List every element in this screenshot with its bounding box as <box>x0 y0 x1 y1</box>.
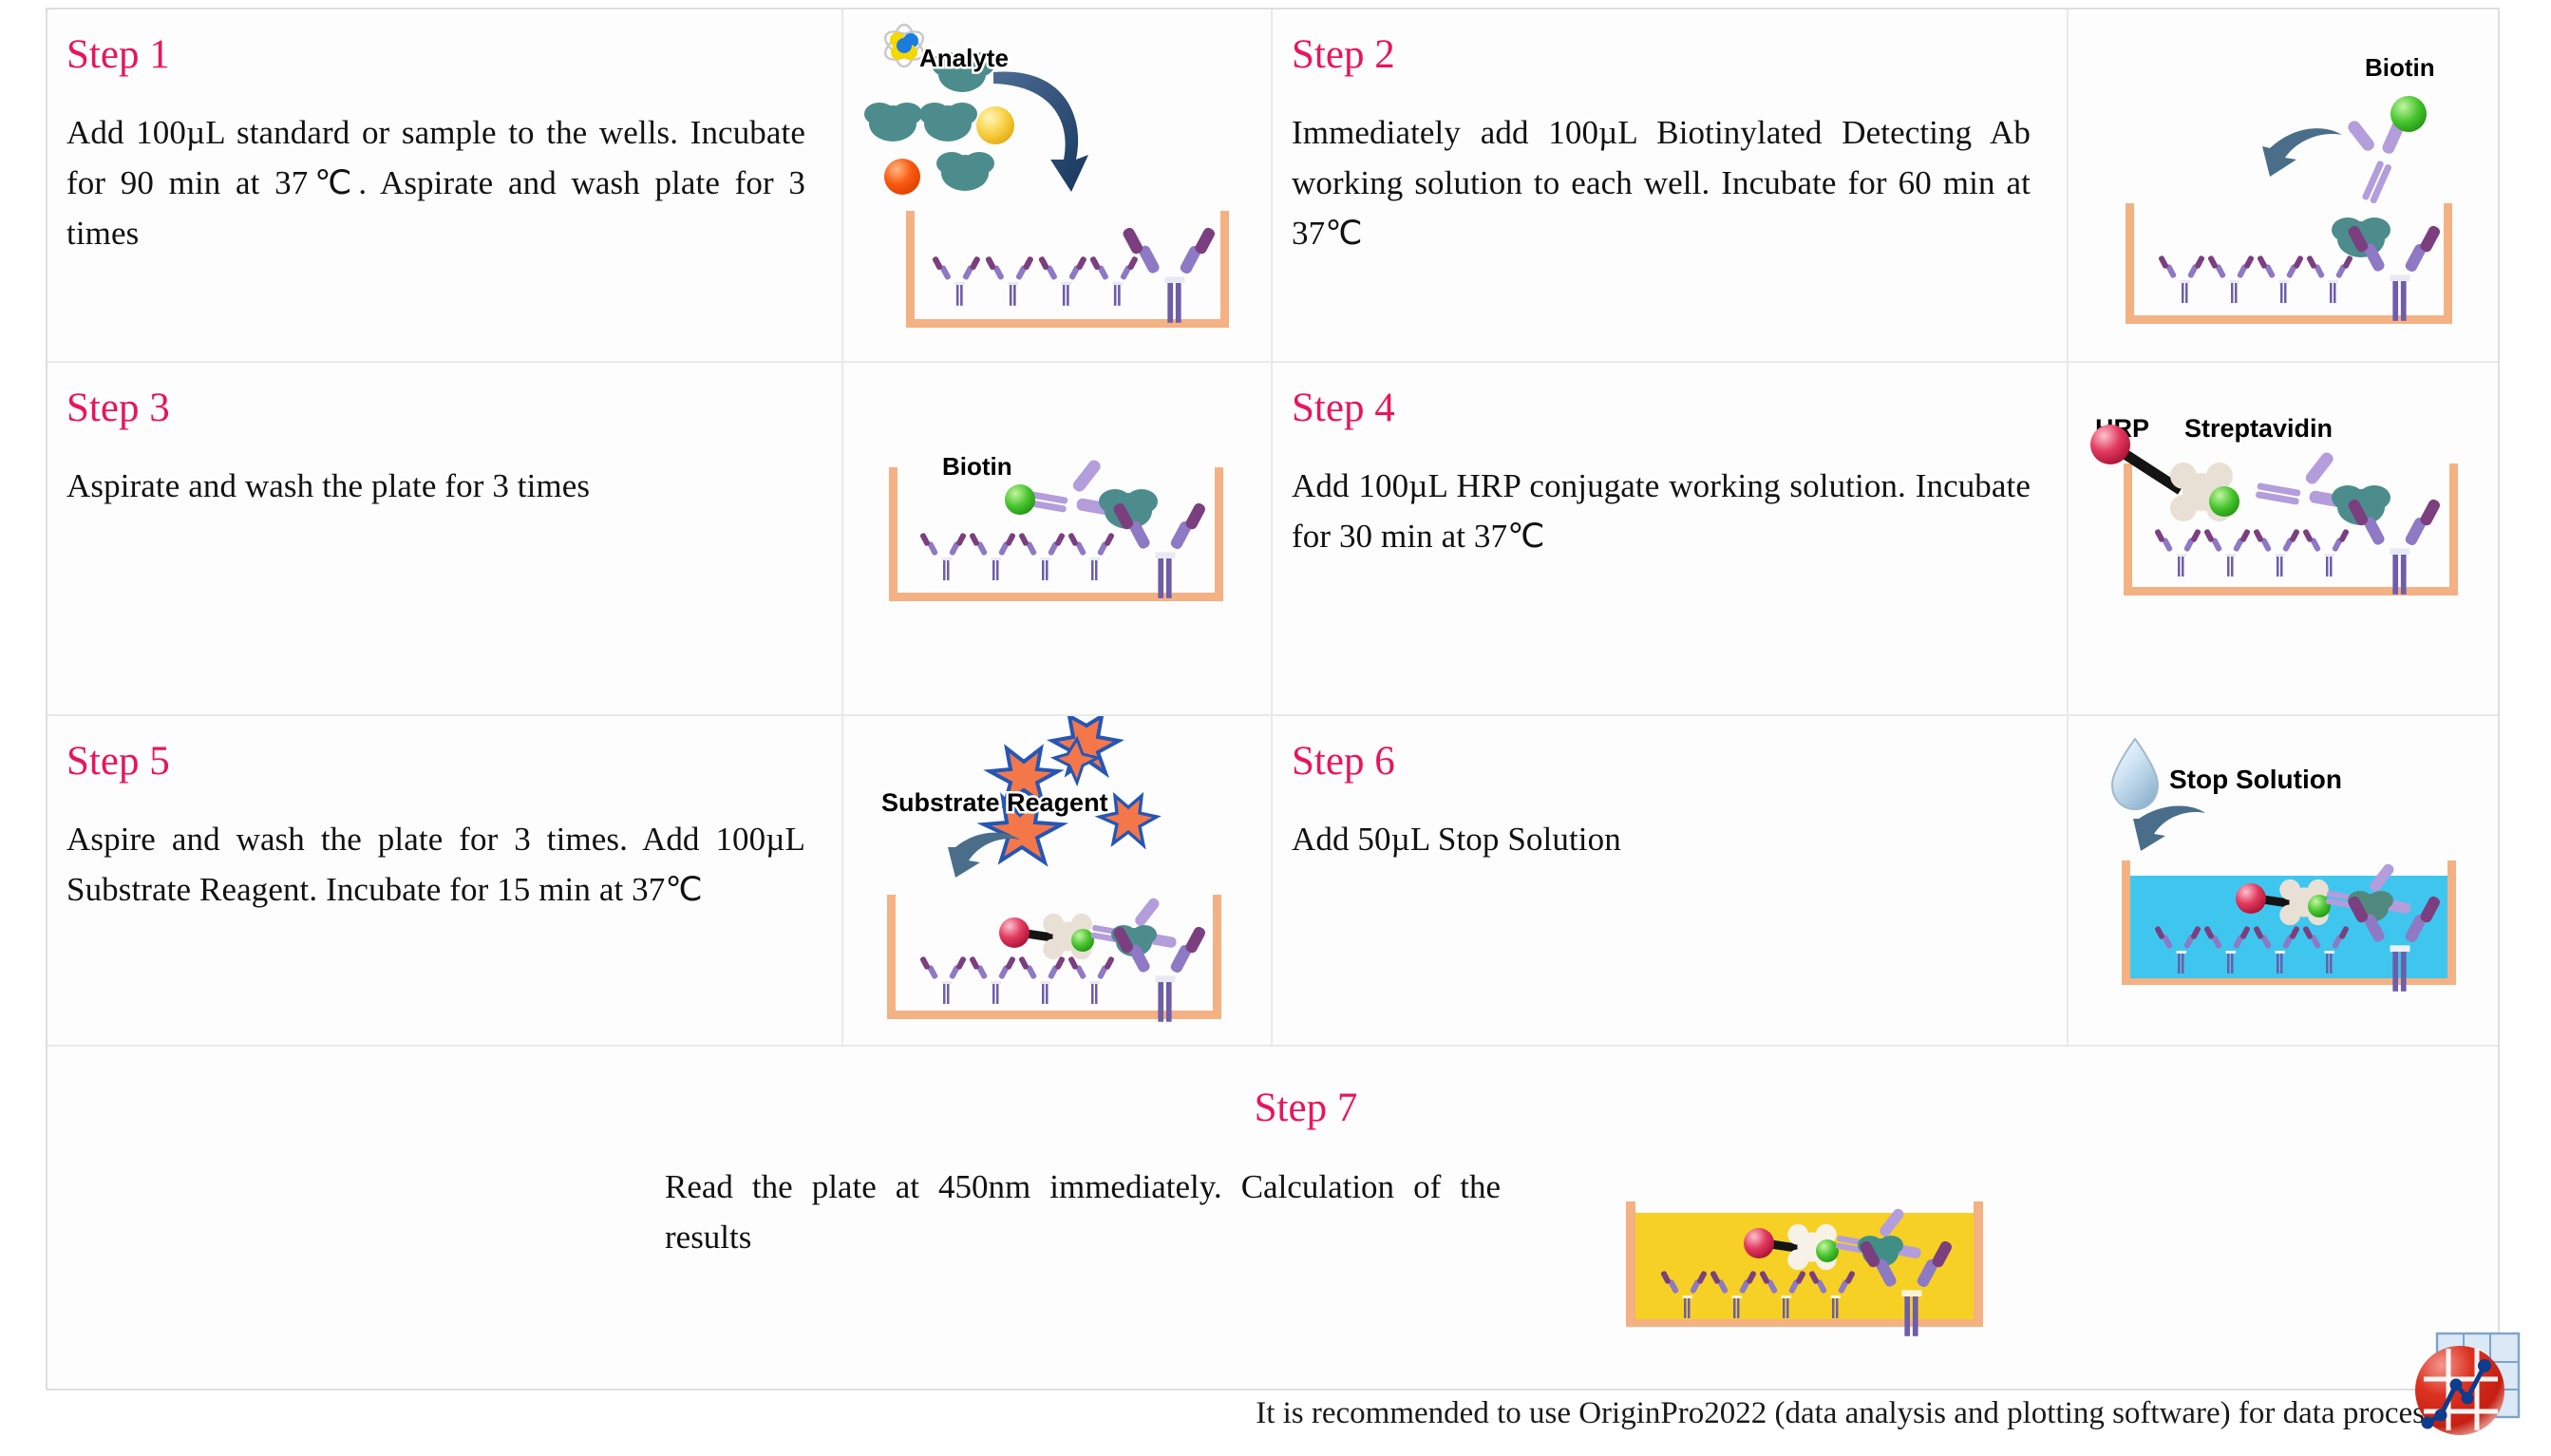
step-2-art-caption: Biotin <box>2365 53 2435 82</box>
step-1-illustration-cell: Analyte <box>843 9 1273 363</box>
protocol-table: Step 1 Add 100µL standard or sample to t… <box>46 8 2500 1390</box>
step-1-art-caption: Analyte <box>919 44 1009 72</box>
analyte-addition-well-art: Analyte <box>843 9 1273 363</box>
capture-antibodies <box>919 501 1207 598</box>
capture-antibodies <box>2158 224 2442 321</box>
hrp-marker <box>2236 883 2266 914</box>
step-3-art-caption: Biotin <box>942 452 1012 481</box>
step-6-art-caption: Stop Solution <box>2169 765 2342 794</box>
step-1-body: Add 100µL standard or sample to the well… <box>66 107 805 259</box>
footer-note: It is recommended to use OriginPro2022 (… <box>1256 1396 2477 1430</box>
step-7-cell: Step 7 Read the plate at 450nm immediate… <box>47 1047 2498 1392</box>
step-4-text-cell: Step 4 Add 100µL HRP conjugate working s… <box>1273 363 2069 716</box>
hrp-streptavidin-well-art: HRP Streptavidin <box>2069 363 2498 716</box>
biotinylated-antibody-well-art: Biotin <box>2069 9 2498 363</box>
step-5-illustration-cell: Substrate Reagent <box>843 716 1273 1047</box>
biotin-marker <box>2308 895 2331 917</box>
footer: It is recommended to use OriginPro2022 (… <box>46 1396 2500 1449</box>
substrate-reagent-well-art: Substrate Reagent <box>843 716 1273 1047</box>
stop-solution-well-art: Stop Solution <box>2069 716 2498 1047</box>
biotin-marker <box>1816 1239 1839 1262</box>
hrp-marker <box>2090 425 2130 464</box>
step-3-body: Aspirate and wash the plate for 3 times <box>66 461 805 511</box>
step-5-text-cell: Step 5 Aspire and wash the plate for 3 t… <box>47 716 843 1047</box>
biotin-marker <box>2390 96 2427 132</box>
biotin-marker <box>2209 486 2239 517</box>
well-outline <box>889 467 1223 601</box>
step-3-label: Step 3 <box>66 388 805 428</box>
step-5-body: Aspire and wash the plate for 3 times. A… <box>66 814 805 915</box>
step-7-body: Read the plate at 450nm immediately. Cal… <box>665 1162 1501 1262</box>
step-1-text-cell: Step 1 Add 100µL standard or sample to t… <box>47 9 843 363</box>
bound-biotin-antibody-well-art: Biotin <box>843 363 1273 716</box>
step-4-body: Add 100µL HRP conjugate working solution… <box>1292 461 2031 561</box>
step-2-text-cell: Step 2 Immediately add 100µL Biotinylate… <box>1273 9 2069 363</box>
step-3-text-cell: Step 3 Aspirate and wash the plate for 3… <box>47 363 843 716</box>
read-plate-well-art <box>1605 1167 2004 1357</box>
step-2-body: Immediately add 100µL Biotinylated Detec… <box>1292 107 2031 259</box>
step-3-illustration-cell: Biotin <box>843 363 1273 716</box>
step-6-illustration-cell: Stop Solution <box>2069 716 2498 1047</box>
capture-antibodies <box>932 226 1217 323</box>
water-drop-icon <box>2112 739 2158 809</box>
step-6-text-cell: Step 6 Add 50µL Stop Solution <box>1273 716 2069 1047</box>
originpro-logo <box>2410 1332 2536 1451</box>
step-2-label: Step 2 <box>1292 34 2031 75</box>
capture-antibodies <box>2154 498 2442 595</box>
step-4-illustration-cell: HRP Streptavidin <box>2069 363 2498 716</box>
step-5-label: Step 5 <box>66 741 805 782</box>
step-6-body: Add 50µL Stop Solution <box>1292 814 2031 864</box>
hrp-marker <box>999 917 1030 948</box>
step-7-illustration <box>1605 1167 2004 1357</box>
step-5-art-caption: Substrate Reagent <box>881 788 1108 817</box>
step-4-label: Step 4 <box>1292 388 2031 428</box>
biotin-marker <box>1005 484 1035 515</box>
step-6-label: Step 6 <box>1292 741 2031 782</box>
step-7-label: Step 7 <box>47 1085 2498 1131</box>
step-2-illustration-cell: Biotin <box>2069 9 2498 363</box>
hrp-marker <box>1744 1228 1774 1258</box>
step-1-label: Step 1 <box>66 34 805 75</box>
step-4-art-caption-streptavidin: Streptavidin <box>2184 414 2333 443</box>
biotin-marker <box>1071 929 1094 952</box>
